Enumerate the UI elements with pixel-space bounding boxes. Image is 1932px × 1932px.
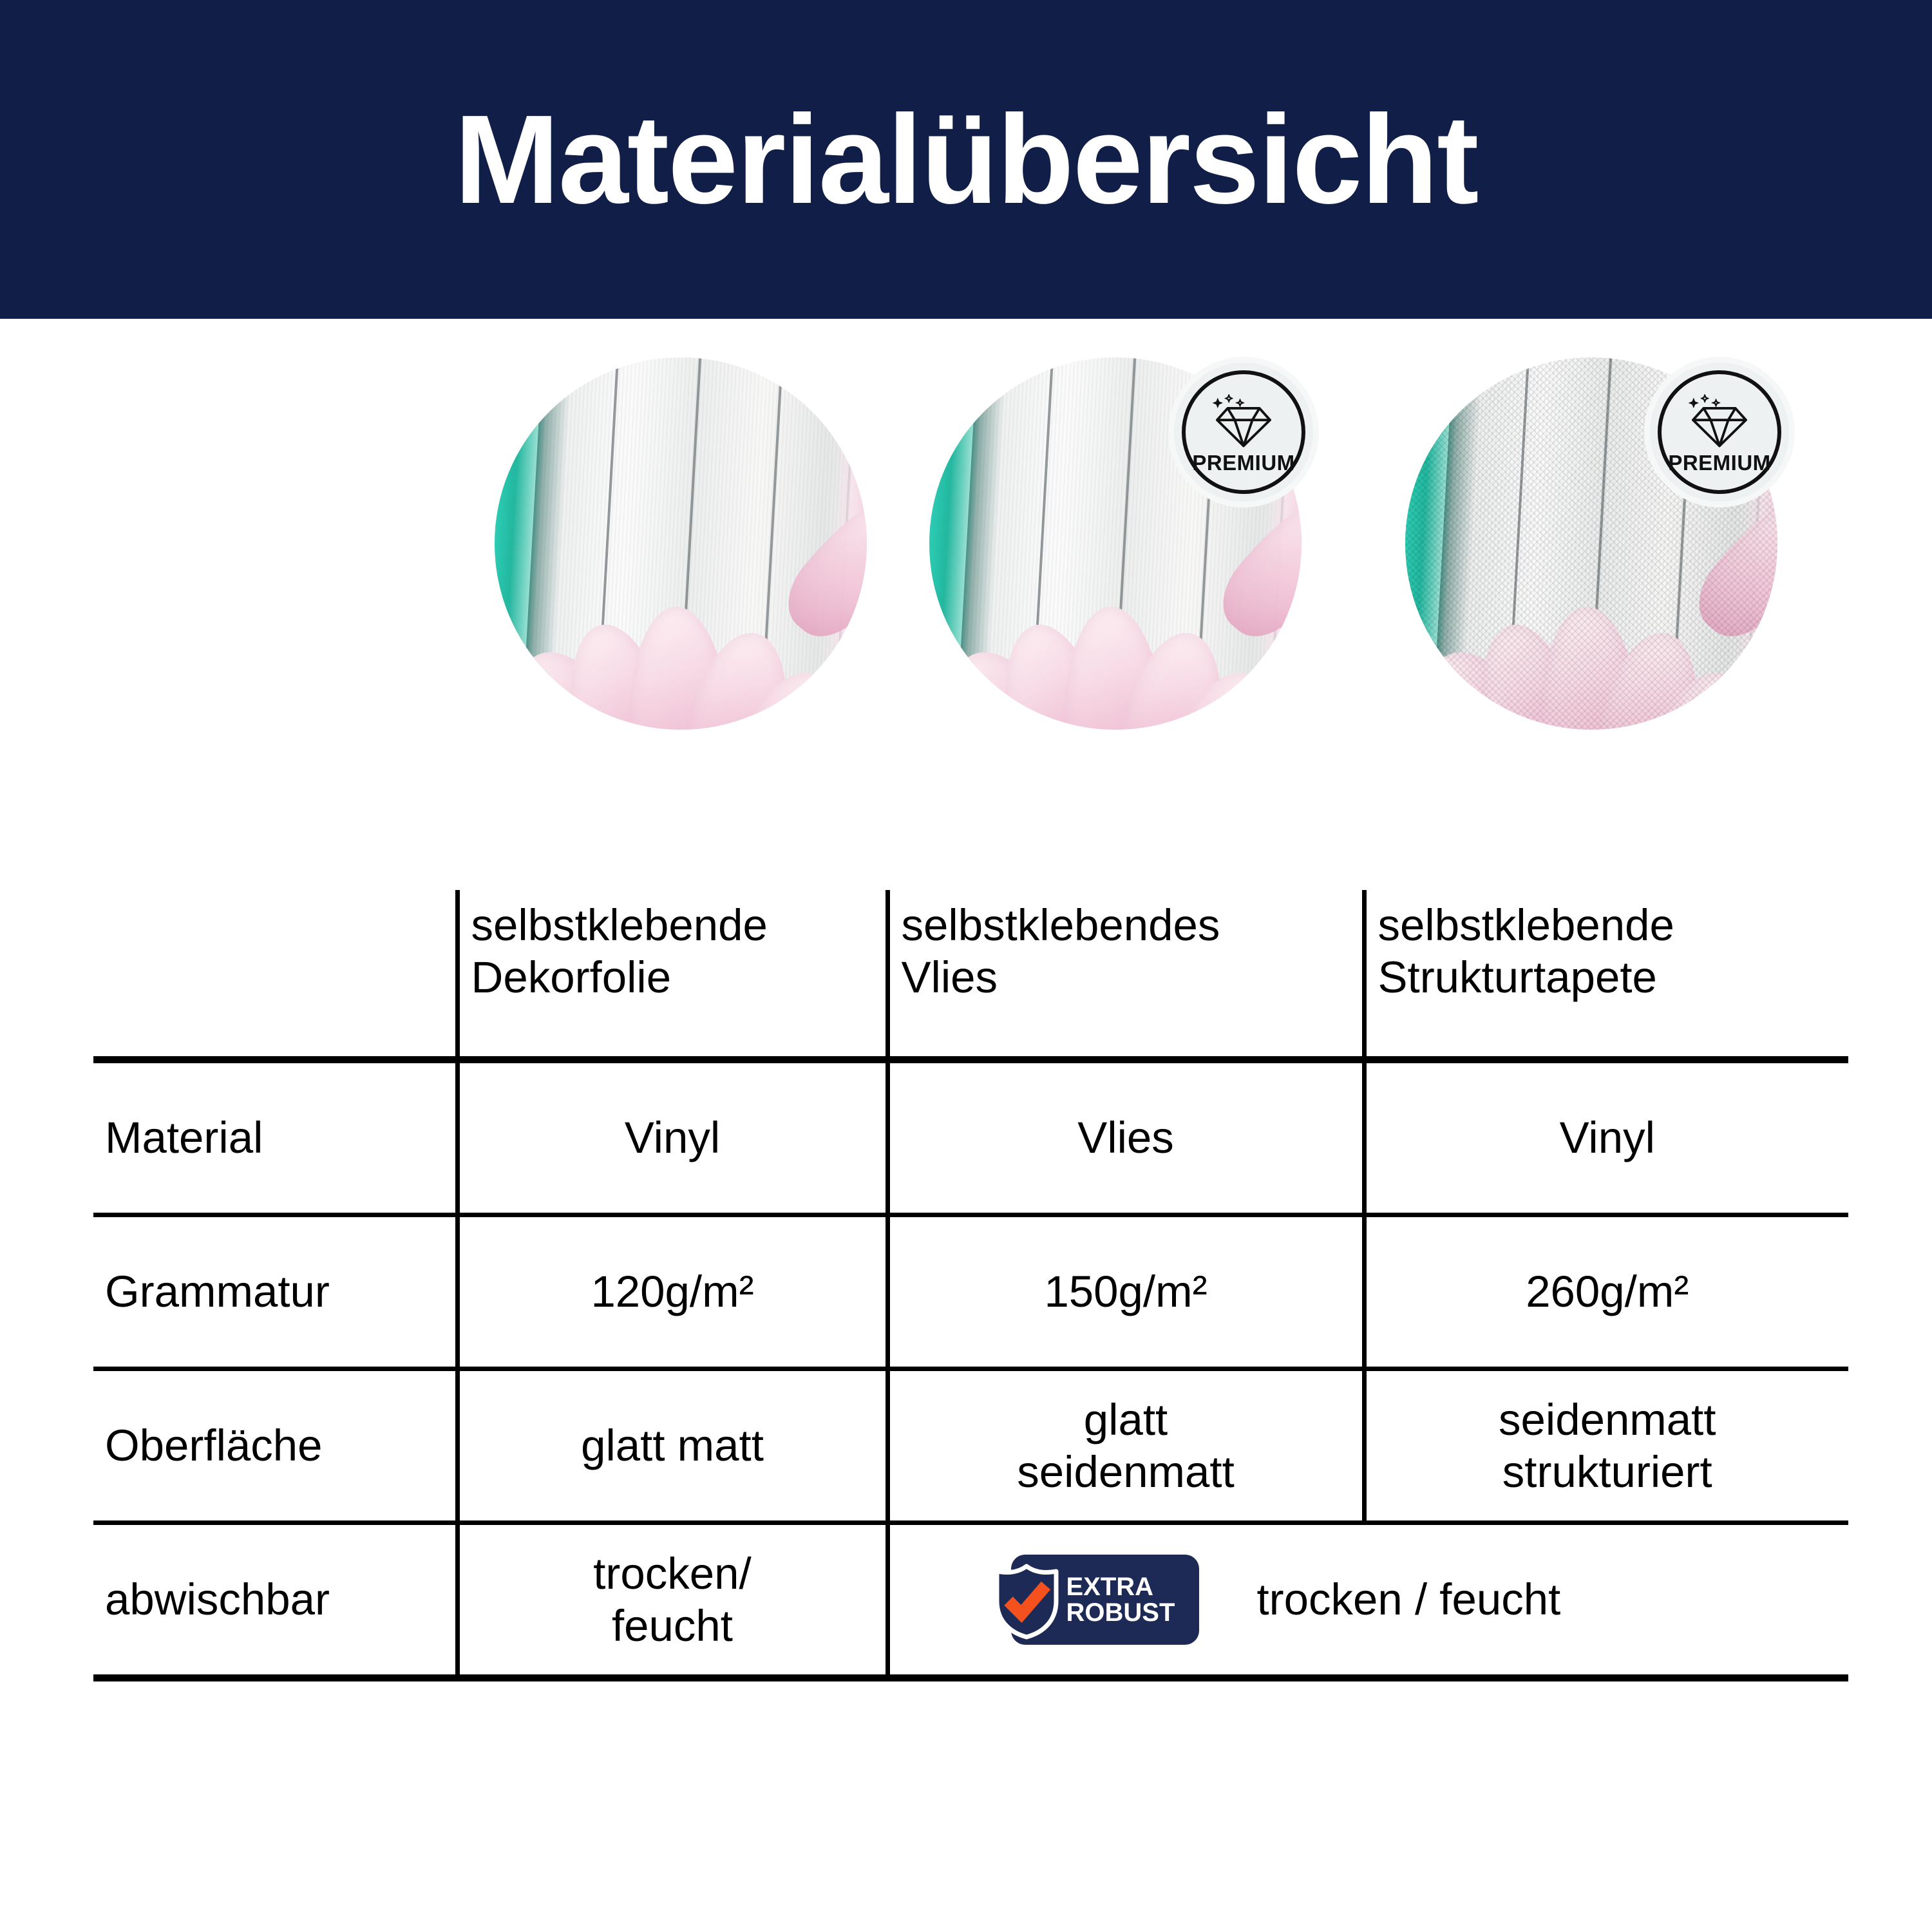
cell-abwischbar-vlies-strukturtapete: EXTRA ROBUST trocken / feucht	[887, 1523, 1848, 1678]
extra-robust-line-2: ROBUST	[1066, 1600, 1175, 1625]
cell-abwischbar-merged-value: trocken / feucht	[1257, 1573, 1561, 1625]
shield-check-icon	[990, 1564, 1063, 1640]
value-line: glatt matt	[471, 1419, 874, 1472]
header-cell-empty	[93, 890, 457, 1060]
cell-material-dekorfolie: Vinyl	[457, 1060, 887, 1215]
header-line-1: selbstklebendes	[902, 899, 1350, 951]
material-preview-3[interactable]: PREMIUM	[1405, 357, 1777, 730]
material-preview-1[interactable]	[495, 357, 867, 730]
header-cell-dekorfolie: selbstklebende Dekorfolie	[457, 890, 887, 1060]
page-header: Materialübersicht	[0, 0, 1932, 319]
cell-grammatur-dekorfolie: 120g/m²	[457, 1215, 887, 1369]
header-cell-vlies: selbstklebendes Vlies	[887, 890, 1364, 1060]
row-label-abwischbar: abwischbar	[93, 1523, 457, 1678]
cell-abwischbar-dekorfolie: trocken/ feucht	[457, 1523, 887, 1678]
header-line-1: selbstklebende	[1378, 899, 1837, 951]
row-label-grammatur: Grammatur	[93, 1215, 457, 1369]
row-label-oberflaeche: Oberfläche	[93, 1369, 457, 1523]
cell-oberflaeche-vlies: glatt seidenmatt	[887, 1369, 1364, 1523]
material-spec-table: selbstklebende Dekorfolie selbstklebende…	[93, 890, 1848, 1681]
extra-robust-line-1: EXTRA	[1066, 1574, 1154, 1600]
value-line: seidenmatt	[1378, 1394, 1837, 1446]
header-line-2: Vlies	[902, 951, 1350, 1003]
header-cell-strukturtapete: selbstklebende Strukturtapete	[1364, 890, 1848, 1060]
diamond-icon	[1207, 394, 1280, 448]
cell-oberflaeche-strukturtapete: seidenmatt strukturiert	[1364, 1369, 1848, 1523]
value-line: feucht	[471, 1600, 874, 1652]
value-line: strukturiert	[1378, 1446, 1837, 1498]
table-row-oberflaeche: Oberfläche glatt matt glatt seidenmatt s…	[93, 1369, 1848, 1523]
premium-badge: PREMIUM	[1174, 363, 1313, 502]
premium-label: PREMIUM	[1668, 451, 1770, 475]
table-header-row: selbstklebende Dekorfolie selbstklebende…	[93, 890, 1848, 1060]
header-line-2: Dekorfolie	[471, 951, 874, 1003]
material-preview-2[interactable]: PREMIUM	[929, 357, 1302, 730]
value-line: glatt	[902, 1394, 1350, 1446]
premium-badge: PREMIUM	[1650, 363, 1789, 502]
diamond-icon	[1683, 394, 1756, 448]
cell-material-vlies: Vlies	[887, 1060, 1364, 1215]
header-line-1: selbstklebende	[471, 899, 874, 951]
table-row-abwischbar: abwischbar trocken/ feucht EXTRA ROBUST	[93, 1523, 1848, 1678]
material-preview-strip: PREMIUM	[0, 357, 1932, 750]
page-title: Materialübersicht	[455, 97, 1478, 223]
row-label-material: Material	[93, 1060, 457, 1215]
preview-image-dekorfolie	[495, 357, 867, 730]
value-line: seidenmatt	[902, 1446, 1350, 1498]
table-row-grammatur: Grammatur 120g/m² 150g/m² 260g/m²	[93, 1215, 1848, 1369]
extra-robust-badge: EXTRA ROBUST	[979, 1555, 1199, 1645]
table-row-material: Material Vinyl Vlies Vinyl	[93, 1060, 1848, 1215]
cell-material-strukturtapete: Vinyl	[1364, 1060, 1848, 1215]
cell-oberflaeche-dekorfolie: glatt matt	[457, 1369, 887, 1523]
header-line-2: Strukturtapete	[1378, 951, 1837, 1003]
premium-label: PREMIUM	[1192, 451, 1294, 475]
cell-grammatur-strukturtapete: 260g/m²	[1364, 1215, 1848, 1369]
value-line: trocken/	[471, 1548, 874, 1600]
cell-grammatur-vlies: 150g/m²	[887, 1215, 1364, 1369]
